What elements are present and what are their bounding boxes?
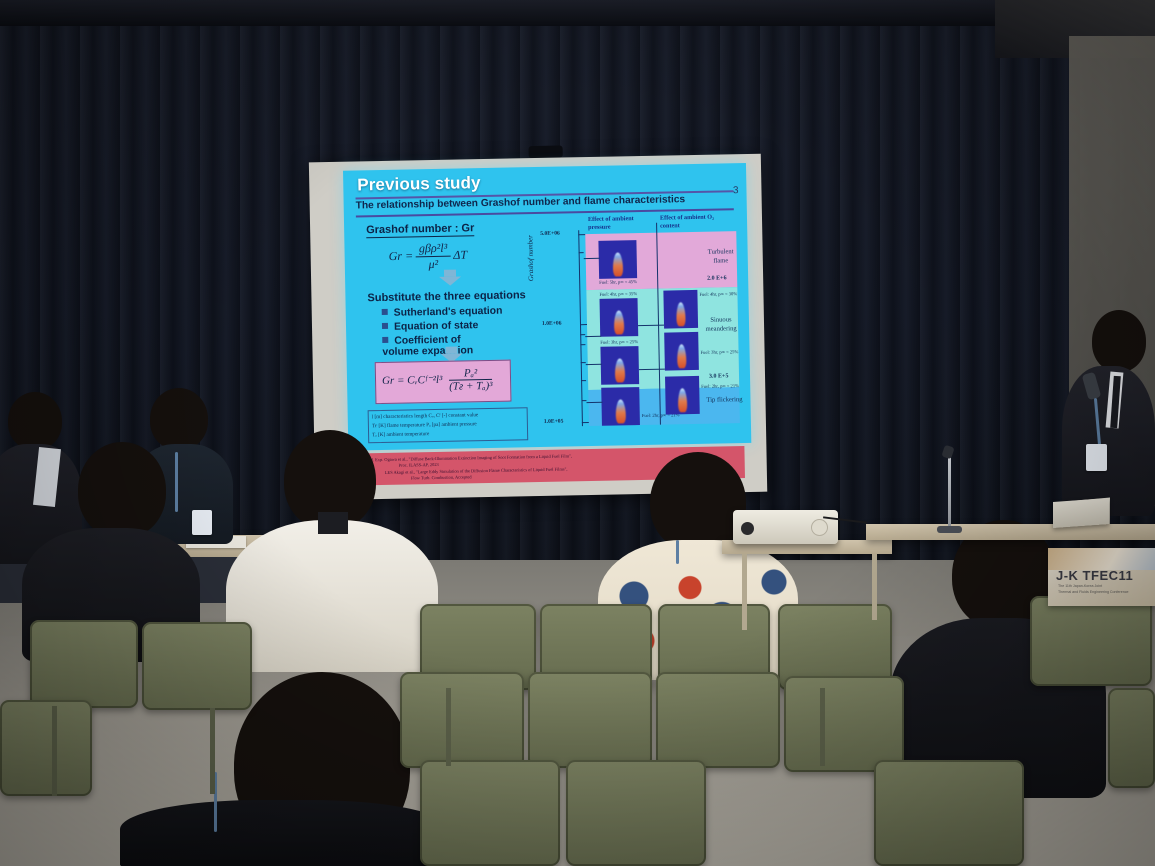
flame-label-p3: Fuel: 3hr, p∞ = 25% [600,339,638,346]
bullet-2: Equation of state [382,320,478,333]
region-value-turbulent: 2.0 E+6 [707,275,727,281]
bullet-square-icon [382,309,388,315]
flame-image-o1 [663,290,698,329]
projector-table-leg [742,554,747,630]
audience-3-collar [318,512,348,534]
chair[interactable] [30,620,138,708]
res-numerator: Pₐ² [449,367,493,381]
projector-table-leg [872,554,877,620]
bullet-1: Sutherland's equation [382,306,503,319]
chair[interactable] [420,760,560,866]
projection-screen: Previous study 3 The relationship betwee… [309,148,768,502]
presenter-head [1092,310,1146,372]
chart-y-axis [578,230,583,426]
result-equation: Gr = CᵥCᶠ⁻²l³ Pₐ² (Tғ + Tₐ)³ [382,367,493,394]
flame-image-p2 [600,298,639,337]
chair[interactable] [566,760,706,866]
chair[interactable] [874,760,1024,866]
flame-label-p1: Fuel: 5hr, p∞ = 45% [599,279,637,286]
grashof-heading: Grashof number : Gr [366,222,474,238]
banner-subtitle-1: The 11th Japan-Korea Joint [1058,584,1102,589]
bullet-3: Coefficient of volume expansion [382,334,492,358]
chair[interactable] [142,622,252,710]
chart-y-axis-label: Grashof number [526,235,535,281]
nomenclature-box: l [m] characteristics length Cᵥ, Cᶠ [-] … [368,407,529,443]
region-label-sinuous: Sinuous meandering [698,315,744,334]
banner-subtitle-2: Thermal and Fluids Engineering Conferenc… [1058,590,1129,595]
eq-tail: ΔT [453,248,467,262]
presenter-name-badge [1086,444,1107,471]
result-equation-box: Gr = CᵥCᶠ⁻²l³ Pₐ² (Tғ + Tₐ)³ [375,360,512,405]
flame-label-o3: Fuel: 2hr, p∞ = 21% [701,383,739,390]
bullet-square-icon [382,337,388,343]
flame-image-o2 [664,332,699,371]
chair[interactable] [400,672,524,768]
chair[interactable] [1108,688,1155,788]
chair[interactable] [784,676,904,772]
banner-artwork [1048,548,1155,570]
column-header-o2: Effect of ambient O₂ content [660,213,728,230]
eq-lhs: Gr = [389,249,414,263]
region-label-tip: Tip flickering [705,395,743,405]
right-table [866,524,1155,540]
substitute-heading: Substitute the three equations [367,289,525,304]
chair[interactable] [528,672,652,768]
flame-image-p1 [598,240,637,279]
grashof-equation: Gr = gβρ²l³ μ² ΔT [388,240,467,272]
bullet-square-icon [382,323,388,329]
flame-image-p4 [601,387,640,426]
flame-label-o1: Fuel: 4hr, p∞ = 30% [699,291,737,298]
ytick-label-top: 5.0E+06 [540,231,560,237]
ytick-label-bottom: 1.0E+05 [544,419,564,425]
nomenclature-line-3: Tₐ [K] ambient temperature [372,428,524,440]
flame-image-p3 [600,346,639,385]
ytick-label-mid: 1.0E+06 [542,321,562,327]
res-lhs: Gr = CᵥCᶠ⁻²l³ [382,374,443,387]
laptop-on-table[interactable] [1053,498,1109,528]
slide-number: 3 [733,185,739,196]
chair[interactable] [0,700,92,796]
chair[interactable] [656,672,780,768]
chair[interactable] [1030,596,1152,686]
column-header-pressure: Effect of ambient pressure [588,215,652,232]
table-microphone-base [937,526,962,533]
conference-room-photo: Previous study 3 The relationship betwee… [0,0,1155,866]
table-microphone-stand [948,452,951,532]
flame-image-o3 [665,376,700,415]
eq-numerator: gβρ²l³ [416,241,451,258]
res-denominator: (Tғ + Tₐ)³ [449,380,493,393]
ceiling-edge [0,0,1155,26]
presentation-slide: Previous study 3 The relationship betwee… [343,163,751,451]
region-label-turbulent: Turbulent flame [701,247,741,266]
projector [733,510,838,544]
flame-label-o2: Fuel: 3hr, p∞ = 25% [701,349,739,356]
conference-banner: J-K TFEC11 The 11th Japan-Korea Joint Th… [1048,548,1155,606]
screen-mount-bracket [529,145,563,158]
region-value-sinuous: 3.0 E+5 [709,373,729,379]
flame-label-p2: Fuel: 4hr, p∞ = 35% [599,291,637,298]
grashof-regime-chart: Grashof number 5.0E+06 1.0E+06 1.0E+05 [544,219,740,435]
projector-lens-icon [741,522,754,535]
slide-title: Previous study [357,173,481,195]
banner-title: J-K TFEC11 [1056,568,1133,583]
projector-dial-icon [811,519,828,536]
